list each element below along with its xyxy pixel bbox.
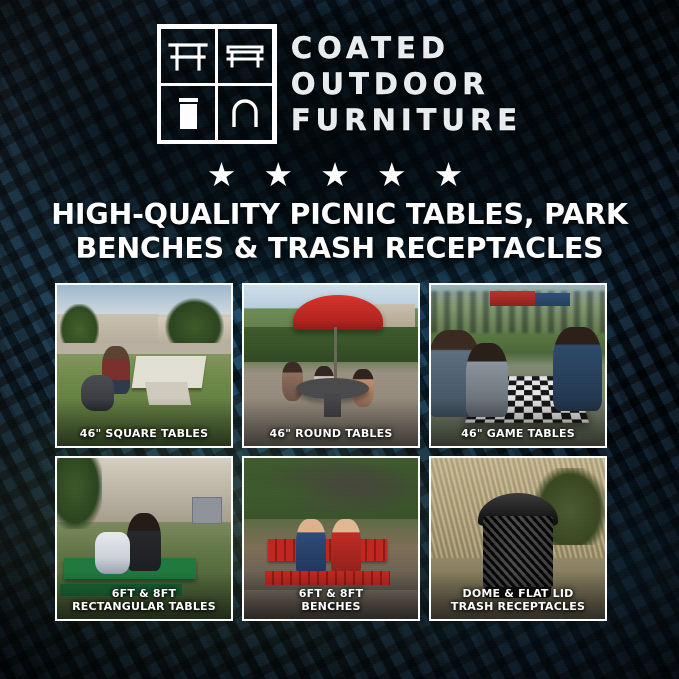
tile-caption-line: DOME & FLAT LID (435, 588, 601, 600)
tile-caption-line: 6FT & 8FT (248, 588, 414, 600)
brand-name-line-3: FURNITURE (291, 104, 522, 138)
brand-name: COATED OUTDOOR FURNITURE (291, 30, 522, 138)
picnic-table-icon (158, 26, 218, 86)
advertisement-image: COATED OUTDOOR FURNITURE ★ ★ ★ ★ ★ HIGH-… (0, 0, 679, 679)
tile-caption-line: TRASH RECEPTACLES (435, 601, 601, 613)
product-tile-benches[interactable]: 6FT & 8FT BENCHES (242, 456, 420, 621)
tile-caption-line: 46" SQUARE TABLES (61, 428, 227, 440)
product-tile-round-tables[interactable]: 46" ROUND TABLES (242, 283, 420, 448)
headline-line-1: HIGH-QUALITY PICNIC TABLES, PARK (22, 198, 657, 232)
brand-logo: COATED OUTDOOR FURNITURE (0, 24, 679, 144)
trash-receptacle-icon (158, 83, 218, 143)
logo-icon-grid (157, 24, 277, 144)
product-tile-game-tables[interactable]: 46" GAME TABLES (429, 283, 607, 448)
brand-name-line-1: COATED (291, 32, 522, 66)
tile-caption-line: 46" ROUND TABLES (248, 428, 414, 440)
tile-caption-line: BENCHES (248, 601, 414, 613)
tile-caption: 46" SQUARE TABLES (57, 428, 231, 440)
tile-caption: 6FT & 8FT RECTANGULAR TABLES (57, 588, 231, 613)
tile-caption: DOME & FLAT LID TRASH RECEPTACLES (431, 588, 605, 613)
product-tile-grid: 46" SQUARE TABLES 46" ROUND TABLES (55, 283, 625, 621)
tile-caption-line: 6FT & 8FT (61, 588, 227, 600)
arch-bench-icon (215, 83, 275, 143)
bench-icon (215, 26, 275, 86)
tile-caption: 46" ROUND TABLES (244, 428, 418, 440)
star-rating: ★ ★ ★ ★ ★ (0, 158, 679, 191)
ad-content: COATED OUTDOOR FURNITURE ★ ★ ★ ★ ★ HIGH-… (0, 0, 679, 679)
tile-caption: 6FT & 8FT BENCHES (244, 588, 418, 613)
tile-caption-line: 46" GAME TABLES (435, 428, 601, 440)
headline-line-2: BENCHES & TRASH RECEPTACLES (22, 232, 657, 266)
product-tile-trash-receptacles[interactable]: DOME & FLAT LID TRASH RECEPTACLES (429, 456, 607, 621)
headline: HIGH-QUALITY PICNIC TABLES, PARK BENCHES… (0, 198, 679, 265)
product-tile-rectangular-tables[interactable]: 6FT & 8FT RECTANGULAR TABLES (55, 456, 233, 621)
tile-caption-line: RECTANGULAR TABLES (61, 601, 227, 613)
product-tile-square-tables[interactable]: 46" SQUARE TABLES (55, 283, 233, 448)
tile-caption: 46" GAME TABLES (431, 428, 605, 440)
brand-name-line-2: OUTDOOR (291, 68, 522, 102)
